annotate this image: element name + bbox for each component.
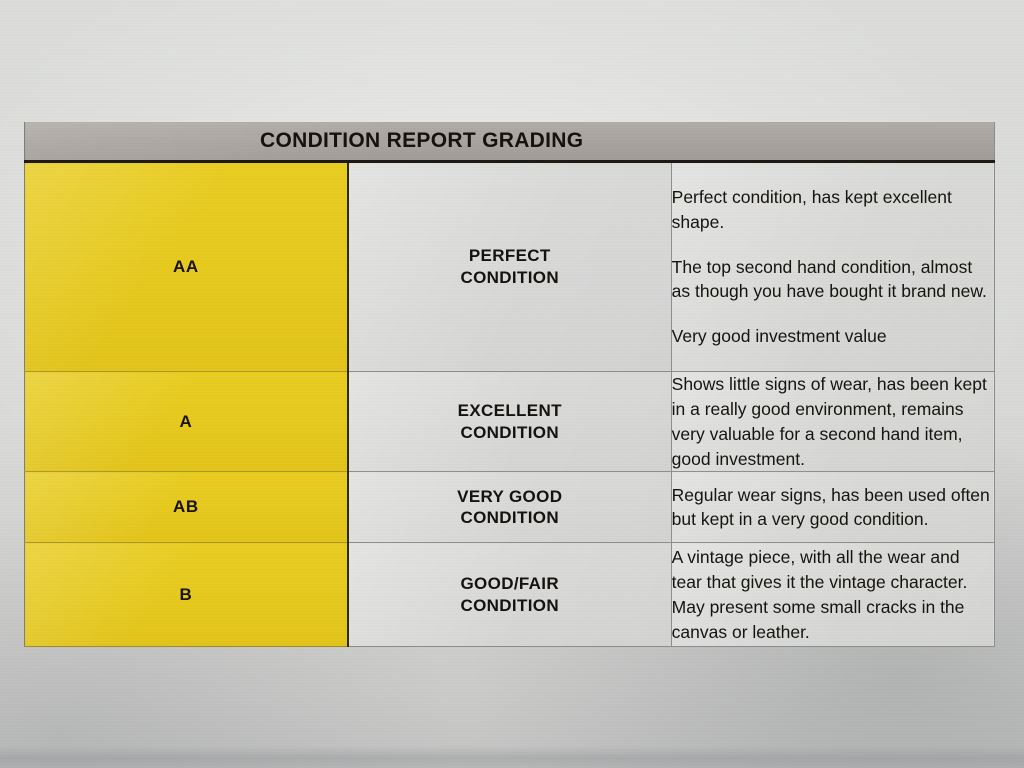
grade-badge-aa: AA <box>25 162 348 372</box>
condition-label-line-1: EXCELLENT <box>458 401 562 420</box>
condition-label-b: GOOD/FAIR CONDITION <box>348 543 671 647</box>
table-title-row: CONDITION REPORT GRADING <box>25 122 995 162</box>
description-cell-aa: Perfect condition, has kept excellent sh… <box>671 162 994 372</box>
description-paragraph: Shows little signs of wear, has been kep… <box>672 372 994 471</box>
table-row: A EXCELLENT CONDITION Shows little signs… <box>25 372 995 472</box>
description-cell-a: Shows little signs of wear, has been kep… <box>671 372 994 472</box>
grade-badge-a: A <box>25 372 348 472</box>
condition-label-line-2: CONDITION <box>460 508 559 527</box>
photo-bottom-shadow <box>0 746 1024 768</box>
page-title: CONDITION REPORT GRADING <box>25 122 994 160</box>
condition-label-line-1: PERFECT <box>469 246 551 265</box>
grade-badge-ab: AB <box>25 472 348 543</box>
condition-label-line-2: CONDITION <box>460 268 559 287</box>
grade-badge-b: B <box>25 543 348 647</box>
description-paragraph: The top second hand condition, almost as… <box>672 255 994 305</box>
condition-label-aa: PERFECT CONDITION <box>348 162 671 372</box>
description-paragraph: Very good investment value <box>672 324 994 349</box>
condition-label-line-1: VERY GOOD <box>457 487 562 506</box>
table-title-bar: CONDITION REPORT GRADING <box>25 122 995 162</box>
description-paragraph: Regular wear signs, has been used often … <box>672 483 994 533</box>
condition-label-line-1: GOOD/FAIR <box>460 574 559 593</box>
condition-label-ab: VERY GOOD CONDITION <box>348 472 671 543</box>
condition-report-grading-table: CONDITION REPORT GRADING AA PERFECT COND… <box>24 122 995 647</box>
description-paragraph: Perfect condition, has kept excellent sh… <box>672 185 994 235</box>
description-paragraph: A vintage piece, with all the wear and t… <box>672 545 994 644</box>
description-cell-ab: Regular wear signs, has been used often … <box>671 472 994 543</box>
condition-label-line-2: CONDITION <box>460 423 559 442</box>
table-row: B GOOD/FAIR CONDITION A vintage piece, w… <box>25 543 995 647</box>
condition-label-line-2: CONDITION <box>460 596 559 615</box>
description-cell-b: A vintage piece, with all the wear and t… <box>671 543 994 647</box>
table-row: AB VERY GOOD CONDITION Regular wear sign… <box>25 472 995 543</box>
condition-label-a: EXCELLENT CONDITION <box>348 372 671 472</box>
table-row: AA PERFECT CONDITION Perfect condition, … <box>25 162 995 372</box>
